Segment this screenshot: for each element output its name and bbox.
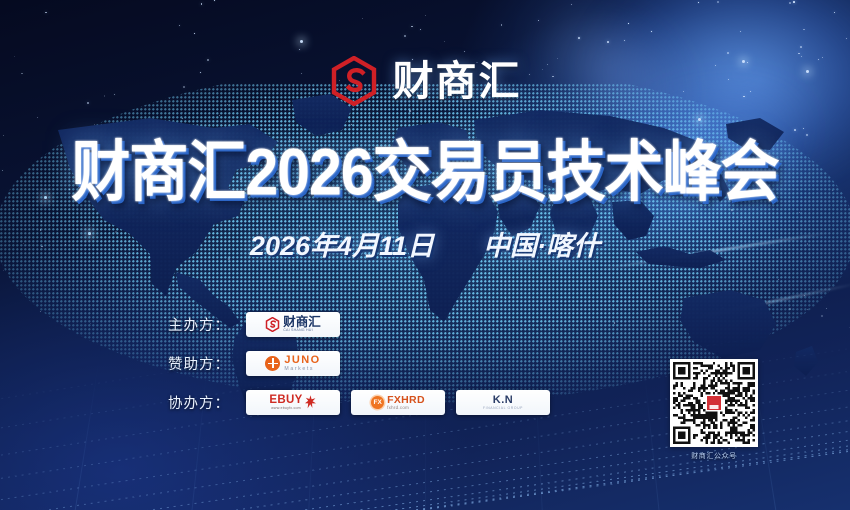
- brand-name: 财商汇: [393, 61, 522, 102]
- brand-lockup: 财商汇: [0, 56, 850, 106]
- sponsor-label-sponsor: 赞助方：: [168, 353, 246, 374]
- sponsor-row-coorganizer: 协办方： EBUY www.ebuyfx.com FX: [168, 390, 688, 415]
- hexagon-s-icon: [329, 56, 379, 106]
- logo-tagline-juno: Markets: [284, 367, 320, 372]
- logo-chip-ebuy[interactable]: EBUY www.ebuyfx.com: [246, 390, 340, 415]
- hexagon-s-icon-small: [265, 317, 280, 332]
- sponsor-row-sponsor: 赞助方： JUNO Markets: [168, 351, 688, 376]
- sponsor-label-organizer: 主办方：: [168, 314, 246, 335]
- logo-text-juno: JUNO: [284, 355, 320, 366]
- qr-caption: 财商汇公众号: [670, 451, 758, 461]
- logo-tagline-fxhrd: fxhrd.com: [387, 406, 425, 410]
- event-poster: 财商汇 财商汇2026交易员技术峰会 2026年4月11日 中国·喀什 主办方：: [0, 0, 850, 510]
- logo-tagline-kn: FINANCIAL GROUP: [483, 407, 523, 410]
- juno-cross-circle-icon: [265, 356, 280, 371]
- sponsor-label-coorganizer: 协办方：: [168, 392, 246, 413]
- logo-text-caishanghui: 财商汇 CAI SHANG HUI: [283, 316, 321, 333]
- logo-tagline-caishanghui: CAI SHANG HUI: [283, 329, 321, 333]
- qr-code-icon[interactable]: [670, 359, 758, 447]
- event-date: 2026年4月11日: [250, 231, 434, 261]
- logo-text-kn: K.N: [493, 395, 513, 406]
- event-subtitle: 2026年4月11日 中国·喀什: [0, 224, 850, 263]
- qr-section: 财商汇公众号: [670, 359, 758, 461]
- logo-text-fxhrd: FXHRD: [387, 395, 425, 406]
- light-beam-secondary-icon: [692, 282, 850, 319]
- page-title: 财商汇2026交易员技术峰会: [0, 139, 850, 205]
- logo-tagline-ebuy: www.ebuyfx.com: [269, 407, 302, 411]
- logo-text-ebuy: EBUY: [269, 395, 302, 407]
- sponsor-section: 主办方： 财商汇 CAI SHANG HUI 赞助方：: [168, 312, 688, 429]
- logo-chip-juno[interactable]: JUNO Markets: [246, 351, 340, 376]
- event-location: 中国·喀什: [483, 231, 600, 261]
- sponsor-row-organizer: 主办方： 财商汇 CAI SHANG HUI: [168, 312, 688, 337]
- fx-circle-icon: FX: [371, 396, 384, 409]
- logo-chip-kn[interactable]: K.N FINANCIAL GROUP: [456, 390, 550, 415]
- ebuy-figure-icon: [304, 394, 317, 411]
- kn-mark-icon: K.N FINANCIAL GROUP: [483, 395, 523, 411]
- logo-chip-caishanghui[interactable]: 财商汇 CAI SHANG HUI: [246, 312, 340, 337]
- logo-chip-fxhrd[interactable]: FX FXHRD fxhrd.com: [351, 390, 445, 415]
